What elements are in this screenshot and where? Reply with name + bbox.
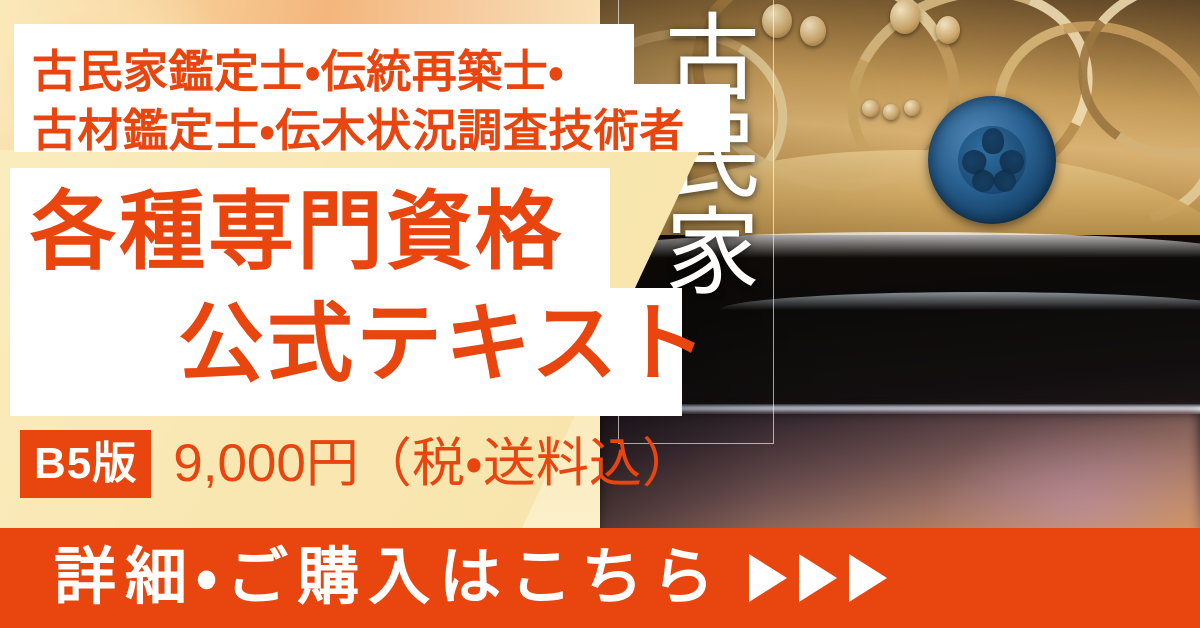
title-line-1: 各種専門資格 <box>30 180 564 284</box>
title-panel: 各種専門資格 公式テキスト <box>10 168 682 416</box>
heading-line-2: 古材鑑定士・伝木状況調査技術者 <box>32 101 732 160</box>
cta-label: 詳細・ご購入はこちら <box>54 528 723 628</box>
cta-bar[interactable]: 詳細・ご購入はこちら <box>0 528 1200 628</box>
format-badge: B5版 <box>20 430 151 498</box>
heading-panel: 古民家鑑定士・伝統再築士・ 古材鑑定士・伝木状況調査技術者 <box>14 24 730 152</box>
price-amount: 9,000円（税・送料込） <box>173 430 695 498</box>
chevron-right-icon <box>799 554 837 602</box>
title-line-2: 公式テキスト <box>178 292 709 396</box>
price-row: B5版 9,000円（税・送料込） <box>20 430 695 498</box>
heading-line-1: 古民家鑑定士・伝統再築士・ <box>32 42 732 101</box>
chevron-right-icon <box>749 554 787 602</box>
promo-banner: 古民家 伝統構法 古民家活用のための調査と再生の 古民家鑑定士・伝統再築士・ 古… <box>0 0 1200 628</box>
cta-arrows <box>749 554 887 602</box>
chevron-right-icon <box>849 554 887 602</box>
